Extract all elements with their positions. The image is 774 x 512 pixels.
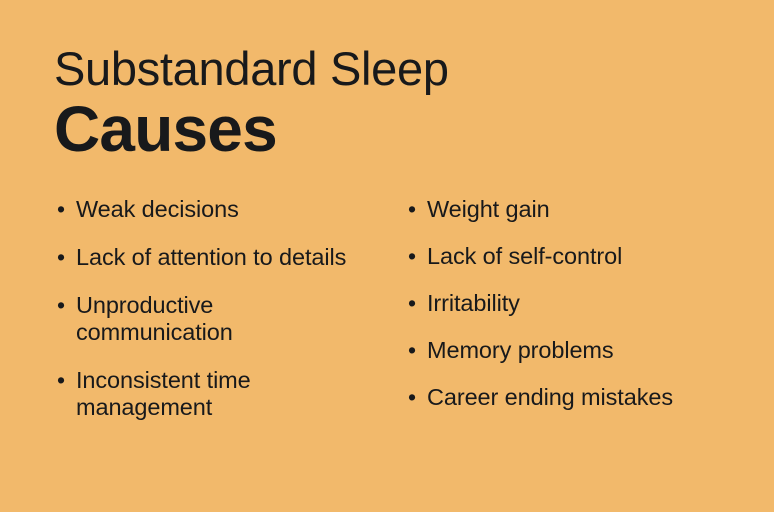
list-item-label: Memory problems [427, 337, 754, 364]
bullet-dot-icon: • [405, 290, 427, 317]
list-item: • Inconsistent time management [54, 367, 360, 421]
list-item-label: Irritability [427, 290, 754, 317]
list-item-label: Lack of self-control [427, 243, 754, 270]
slide-canvas: Substandard Sleep Causes • Weak decision… [0, 0, 774, 512]
title-line-primary: Substandard Sleep [54, 44, 734, 94]
right-column: • Weight gain • Lack of self-control • I… [380, 196, 774, 431]
list-item: • Irritability [405, 290, 754, 317]
slide-title-block: Substandard Sleep Causes [54, 44, 734, 164]
bullet-columns: • Weak decisions • Lack of attention to … [0, 196, 774, 431]
bullet-dot-icon: • [405, 337, 427, 364]
list-item: • Lack of self-control [405, 243, 754, 270]
bullet-dot-icon: • [405, 243, 427, 270]
list-item: • Unproductive communication [54, 292, 360, 346]
bullet-dot-icon: • [54, 244, 76, 271]
list-item-label: Unproductive communication [76, 292, 360, 346]
left-column: • Weak decisions • Lack of attention to … [0, 196, 380, 421]
title-line-emphasis: Causes [54, 96, 734, 164]
left-column-bullet-list: • Weak decisions • Lack of attention to … [54, 196, 360, 421]
right-column-bullet-list: • Weight gain • Lack of self-control • I… [405, 196, 754, 411]
list-item-label: Lack of attention to details [76, 244, 360, 271]
list-item: • Memory problems [405, 337, 754, 364]
list-item-label: Career ending mistakes [427, 384, 754, 411]
bullet-dot-icon: • [405, 196, 427, 223]
list-item-label: Weak decisions [76, 196, 360, 223]
list-item-label: Inconsistent time management [76, 367, 360, 421]
bullet-dot-icon: • [405, 384, 427, 411]
bullet-dot-icon: • [54, 367, 76, 394]
list-item: • Weak decisions [54, 196, 360, 223]
bullet-dot-icon: • [54, 196, 76, 223]
list-item: • Weight gain [405, 196, 754, 223]
list-item: • Lack of attention to details [54, 244, 360, 271]
list-item: • Career ending mistakes [405, 384, 754, 411]
bullet-dot-icon: • [54, 292, 76, 319]
list-item-label: Weight gain [427, 196, 754, 223]
